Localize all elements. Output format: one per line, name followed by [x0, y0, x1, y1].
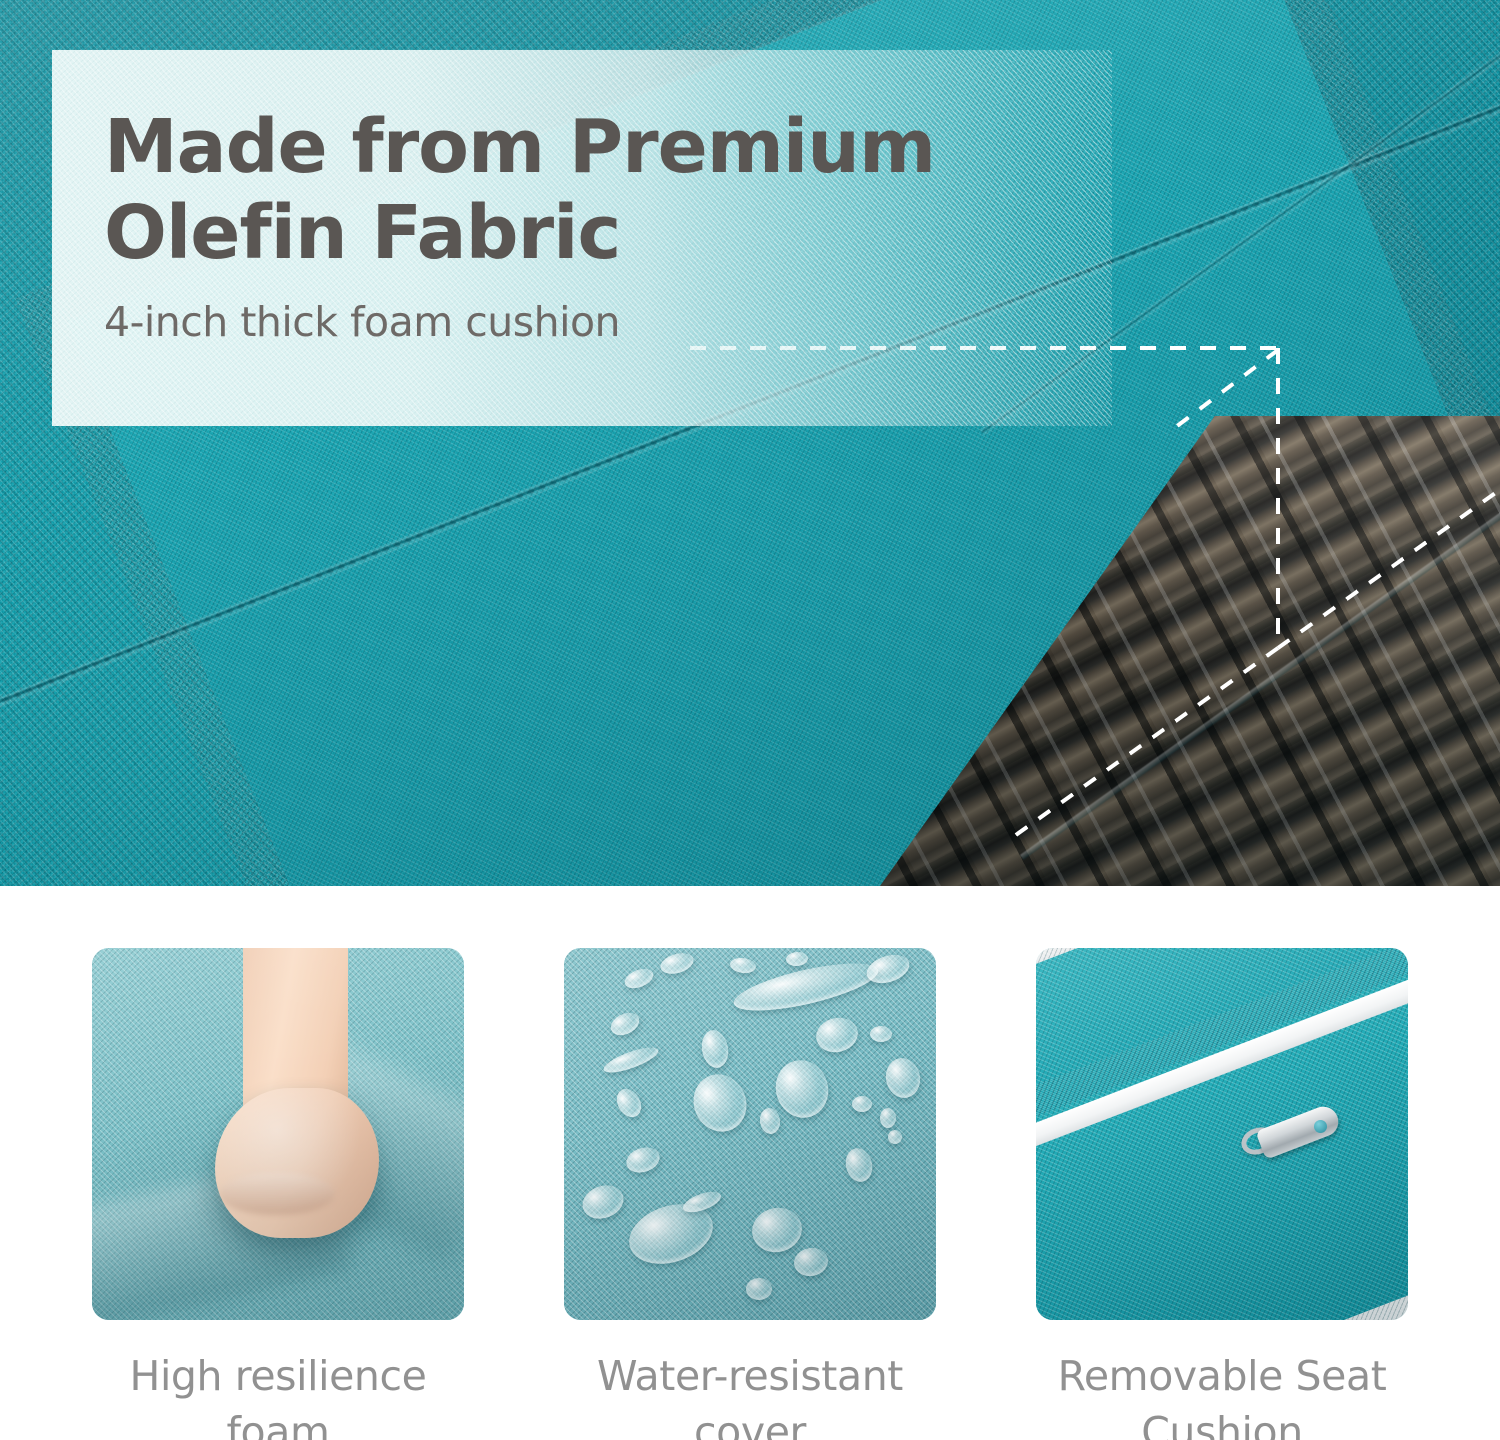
hero-text-panel: Made from Premium Olefin Fabric 4-inch t… — [52, 50, 1112, 426]
feature-caption-removable-seat-cushion: Removable Seat Cushion — [1036, 1348, 1408, 1440]
thickness-dashed-line-vertical — [1276, 348, 1280, 648]
fist — [215, 1088, 379, 1238]
water-droplet — [880, 1108, 896, 1128]
feature-caption-water-resistant-cover: Water-resistant cover — [564, 1348, 936, 1440]
water-droplet — [888, 1130, 902, 1144]
feature-image-high-resilience-foam[interactable] — [92, 948, 464, 1320]
zipper-slider-accent — [1314, 1120, 1327, 1133]
feature-removable-seat-cushion: Removable Seat Cushion — [1036, 948, 1408, 1440]
water-droplet — [852, 1096, 872, 1112]
feature-image-water-resistant-cover[interactable] — [564, 948, 936, 1320]
feature-water-resistant-cover: Water-resistant cover — [564, 948, 936, 1440]
hero-subheadline: 4-inch thick foam cushion — [104, 298, 1112, 346]
knuckle-shading — [219, 1173, 335, 1215]
hero-image: Made from Premium Olefin Fabric 4-inch t… — [0, 0, 1500, 886]
product-feature-page: Made from Premium Olefin Fabric 4-inch t… — [0, 0, 1500, 1440]
hero-headline: Made from Premium Olefin Fabric — [104, 104, 1112, 276]
feature-image-removable-seat-cushion[interactable] — [1036, 948, 1408, 1320]
water-droplet — [870, 1026, 892, 1042]
water-droplet — [746, 1278, 772, 1300]
feature-caption-high-resilience-foam: High resilience foam — [92, 1348, 464, 1440]
feature-high-resilience-foam: High resilience foam — [92, 948, 464, 1440]
feature-row: High resilience foam Water-resistant cov… — [0, 886, 1500, 1440]
